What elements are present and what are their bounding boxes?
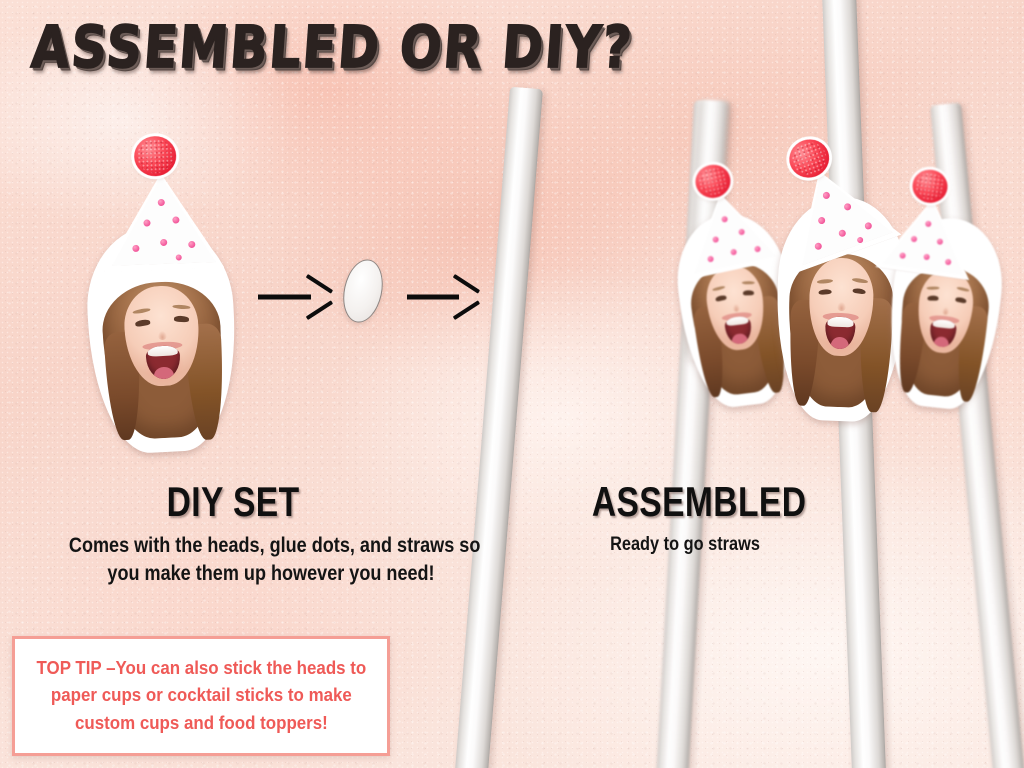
eye-left	[927, 296, 938, 301]
tongue	[830, 337, 849, 350]
party-hat-assembled-left	[676, 168, 777, 273]
tongue	[731, 333, 748, 346]
arrow-shaft	[258, 295, 311, 300]
arrow-right-icon	[258, 284, 332, 310]
hat-cone	[109, 175, 216, 266]
eyebrow-left	[132, 308, 150, 315]
eyebrow-right	[172, 304, 190, 309]
hat-dot	[754, 245, 761, 252]
nose	[837, 302, 846, 311]
arrow-right-icon	[407, 284, 479, 310]
hat-dot	[158, 199, 165, 206]
hat-dot	[132, 245, 139, 252]
eye-right	[852, 288, 866, 295]
eye-left	[135, 319, 151, 327]
straw-diy-single	[454, 87, 543, 768]
nose	[157, 331, 167, 340]
arrow-head-upper	[306, 274, 333, 294]
nose	[732, 304, 740, 312]
mouth	[145, 345, 181, 380]
eye-right	[743, 291, 754, 296]
arrow-shaft	[407, 295, 459, 300]
party-hat-diy	[108, 150, 216, 266]
arrow-head-upper	[453, 274, 480, 294]
eye-left	[715, 295, 727, 302]
hat-dot	[721, 215, 728, 222]
pom-pom	[134, 135, 177, 176]
top-tip-box: TOP TIP –You can also stick the heads to…	[12, 636, 390, 756]
eyebrow-right	[956, 287, 969, 293]
teeth	[147, 345, 178, 356]
eye-right	[174, 316, 189, 322]
tongue	[933, 336, 950, 348]
mouth	[929, 318, 957, 348]
eyebrow-right	[852, 277, 868, 283]
mouth	[825, 316, 856, 349]
nose	[942, 307, 950, 315]
teeth	[726, 315, 749, 326]
teeth	[827, 316, 854, 327]
assembled-subtitle-line1: Ready to go straws	[543, 533, 827, 557]
glue-dot-icon	[338, 256, 388, 327]
eye-left	[819, 289, 832, 295]
teeth	[932, 318, 955, 328]
hat-dot	[188, 240, 195, 247]
eyebrow-right	[742, 281, 755, 284]
eyebrow-left	[817, 278, 833, 283]
top-tip-line3: custom cups and food toppers!	[75, 713, 328, 733]
party-hat-assembled-right	[882, 177, 975, 276]
diy-heading: DIY SET	[167, 478, 300, 526]
arrow-head-lower	[306, 301, 333, 321]
assembled-heading: ASSEMBLED	[592, 478, 807, 526]
page-title: ASSEMBLED OR DIY?	[29, 14, 635, 81]
mouth	[724, 315, 753, 346]
top-tip-line2: paper cups or cocktail sticks to make	[51, 685, 352, 705]
arrow-head-lower	[453, 301, 480, 321]
top-tip-text: TOP TIP –You can also stick the heads to…	[36, 655, 366, 737]
tongue	[153, 366, 174, 380]
hat-dot	[936, 238, 943, 245]
eyebrow-left	[712, 285, 726, 291]
diy-subtitle-line2: you make them up however you need!	[69, 561, 473, 588]
eyebrow-left	[927, 287, 940, 291]
eye-right	[955, 296, 967, 303]
diy-subtitle-line1: Comes with the heads, glue dots, and str…	[69, 533, 473, 560]
poster-canvas: ASSEMBLED OR DIY?	[0, 0, 1024, 768]
top-tip-line1: TOP TIP –You can also stick the heads to	[36, 658, 366, 678]
